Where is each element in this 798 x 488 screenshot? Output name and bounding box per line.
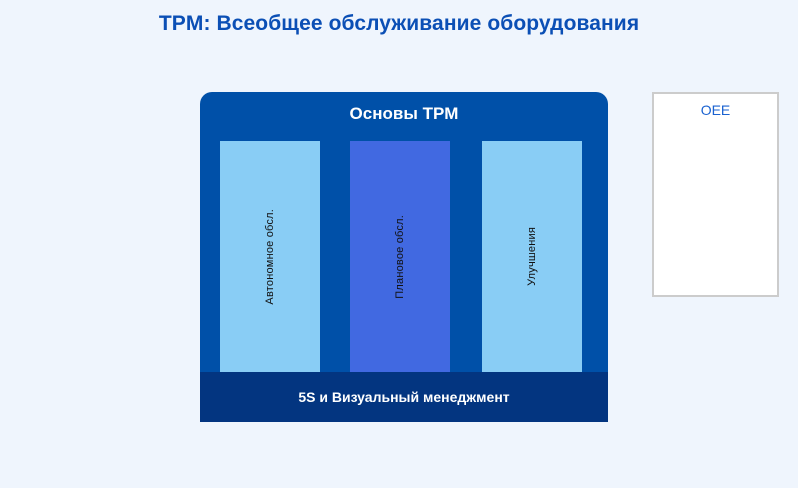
oee-panel: OEE (652, 92, 779, 297)
pillar-improvements: Улучшения (482, 141, 582, 372)
tpm-foundation-label: 5S и Визуальный менеджмент (298, 389, 509, 405)
pillar-autonomous-maintenance: Автономное обсл. (220, 141, 320, 372)
page-title: TPM: Всеобщее обслуживание оборудования (0, 12, 798, 36)
pillar-planned-maintenance: Плановое обсл. (350, 141, 450, 372)
pillar-label-improvements: Улучшения (526, 227, 538, 286)
pillar-label-autonomous-maintenance: Автономное обсл. (264, 209, 276, 305)
oee-panel-title: OEE (654, 102, 777, 118)
pillar-label-planned-maintenance: Плановое обсл. (394, 215, 406, 299)
tpm-foundation-bar: 5S и Визуальный менеджмент (200, 372, 608, 422)
tpm-roof-label: Основы TPM (200, 104, 608, 124)
tpm-house-diagram: Основы TPM Автономное обсл. Плановое обс… (200, 92, 608, 422)
